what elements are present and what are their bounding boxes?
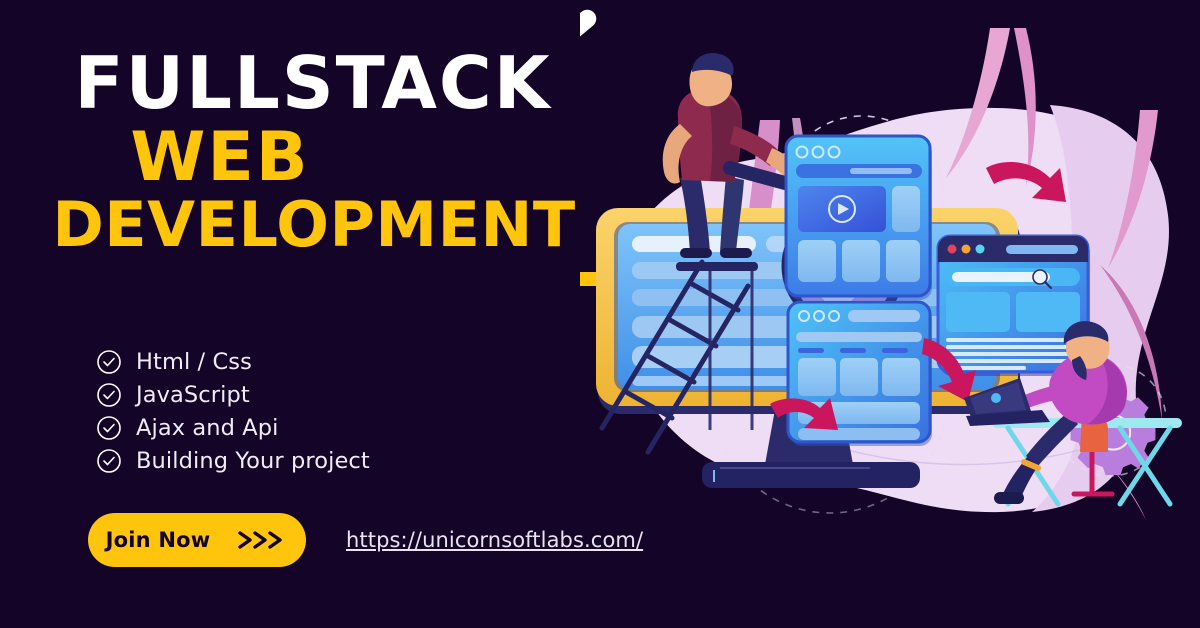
join-now-label: Join Now [106,528,211,552]
promo-banner: FULLSTACK WEB DEVELOPMENT Html / Css Jav… [0,0,1200,628]
check-circle-icon [96,349,122,375]
list-item: JavaScript [96,378,370,411]
triple-chevron-right-icon [236,529,288,551]
headline-line-2: WEB [0,125,640,192]
feature-label: JavaScript [136,382,250,408]
browser-window-search [938,236,1090,376]
window-dots [948,245,985,254]
headline-line-3: DEVELOPMENT [0,195,640,256]
illustration-svg [580,0,1200,628]
browser-window-video [786,136,932,300]
check-circle-icon [96,415,122,441]
list-item: Ajax and Api [96,411,370,444]
feature-label: Building Your project [136,448,370,474]
feature-label: Ajax and Api [136,415,279,441]
list-item: Html / Css [96,345,370,378]
feature-label: Html / Css [136,349,252,375]
text-column: FULLSTACK WEB DEVELOPMENT Html / Css Jav… [0,0,640,628]
list-item: Building Your project [96,444,370,477]
check-circle-icon [96,382,122,408]
headline-group: FULLSTACK WEB DEVELOPMENT [0,48,640,256]
check-circle-icon [96,448,122,474]
person-shoe [994,492,1024,504]
cta-row: Join Now https://unicornsoftlabs.com/ [88,513,643,567]
side-panel [892,186,920,232]
monitor-base [702,462,920,488]
feature-list: Html / Css JavaScript Ajax and Api [96,345,370,477]
illustration [580,0,1200,628]
headline-line-1: FULLSTACK [0,48,640,119]
join-now-button[interactable]: Join Now [88,513,306,567]
ladder-platform [676,262,758,271]
website-url-link[interactable]: https://unicornsoftlabs.com/ [346,528,643,552]
